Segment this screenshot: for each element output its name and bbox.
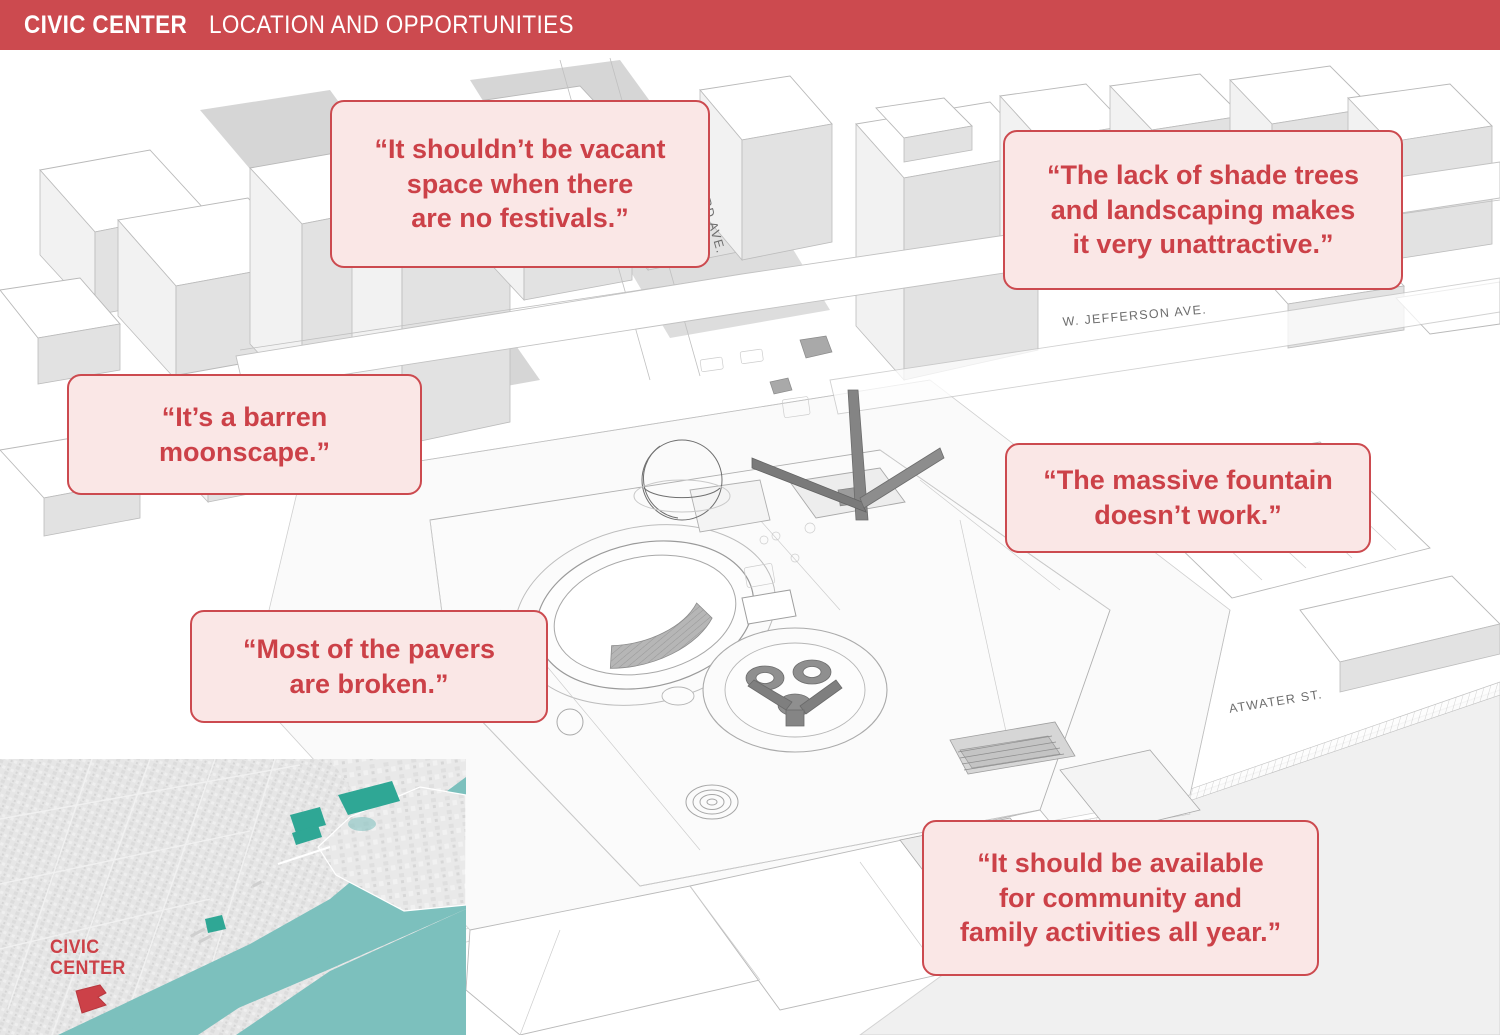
quote-bubble-barren-moonscape: “It’s a barren moonscape.” bbox=[67, 374, 422, 495]
civic-center-board: .bldg-top { fill:#ffffff; stroke:#b9b9b9… bbox=[0, 0, 1500, 1035]
locator-inset-map bbox=[0, 759, 466, 1035]
quote-bubble-community-activities: “It should be available for community an… bbox=[922, 820, 1319, 976]
quote-line: “It should be available bbox=[960, 846, 1281, 881]
page-subtitle: LOCATION AND OPPORTUNITIES bbox=[209, 11, 574, 40]
page-header: CIVIC CENTER LOCATION AND OPPORTUNITIES bbox=[0, 0, 1500, 50]
quote-line: are broken.” bbox=[243, 667, 495, 702]
quote-line: are no festivals.” bbox=[374, 201, 665, 236]
quote-bubble-massive-fountain: “The massive fountain doesn’t work.” bbox=[1005, 443, 1371, 553]
quote-line: family activities all year.” bbox=[960, 915, 1281, 950]
quote-line: space when there bbox=[374, 167, 665, 202]
quote-line: it very unattractive.” bbox=[1047, 227, 1359, 262]
quote-line: “Most of the pavers bbox=[243, 632, 495, 667]
quote-line: and landscaping makes bbox=[1047, 193, 1359, 228]
quote-bubble-shade-trees: “The lack of shade trees and landscaping… bbox=[1003, 130, 1403, 290]
quote-line: “The massive fountain bbox=[1043, 463, 1333, 498]
quote-line: “It’s a barren bbox=[159, 400, 330, 435]
quote-bubble-broken-pavers: “Most of the pavers are broken.” bbox=[190, 610, 548, 723]
quote-line: doesn’t work.” bbox=[1043, 498, 1333, 533]
quote-line: “The lack of shade trees bbox=[1047, 158, 1359, 193]
quote-line: moonscape.” bbox=[159, 435, 330, 470]
page-title: CIVIC CENTER bbox=[24, 11, 187, 40]
quote-bubble-vacant-space: “It shouldn’t be vacant space when there… bbox=[330, 100, 710, 268]
quote-line: for community and bbox=[960, 881, 1281, 916]
quote-line: “It shouldn’t be vacant bbox=[374, 132, 665, 167]
